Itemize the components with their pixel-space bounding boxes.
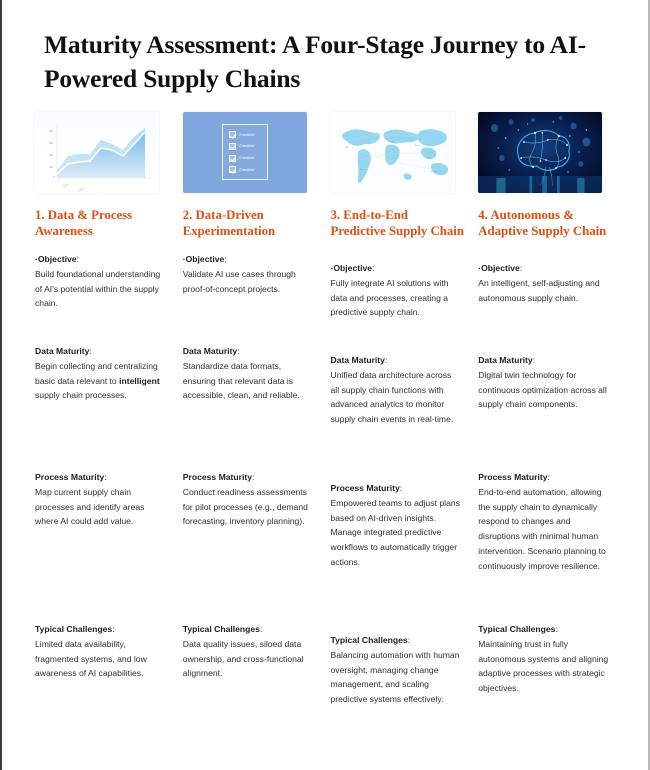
typical-challenges-text-2: Data quality issues, siloed data ownersh…: [183, 639, 304, 679]
objective-colon: :: [520, 263, 522, 273]
checklist-item: Checklist: [229, 166, 267, 173]
objective-text-4: An intelligent, self-adjusting and auton…: [478, 278, 599, 303]
colon: :: [89, 346, 91, 356]
objective-colon: :: [372, 263, 374, 273]
typical-challenges-text-4: Maintaining trust in fully autonomous sy…: [478, 639, 608, 693]
colon: :: [385, 355, 387, 365]
svg-text:Brazil: Brazil: [360, 169, 365, 171]
process-maturity-cell-3: Process Maturity: Empowered teams to adj…: [331, 470, 475, 622]
process-maturity-row: Process Maturity: Map current supply cha…: [2, 470, 650, 622]
typical-challenges-text-3: Balancing automation with human oversigh…: [331, 650, 460, 704]
objective-block-3: ·Objective: Fully integrate AI solutions…: [331, 261, 475, 320]
objective-label-1: ·Objective: [35, 254, 77, 264]
world-map-graphic: USA Brazil Europe China Asia Australia: [331, 112, 455, 193]
typical-challenges-cell-4: Typical Challenges: Maintaining trust in…: [478, 622, 622, 732]
data-maturity-text-1-bold: intelligent: [119, 376, 160, 386]
objective-cell-4: ·Objective: An intelligent, self-adjusti…: [478, 252, 622, 344]
process-maturity-label-3: Process Maturity: [331, 483, 400, 493]
process-maturity-block-3: Process Maturity: Empowered teams to adj…: [331, 481, 475, 570]
objective-block-1: ·Objective: Build foundational understan…: [35, 252, 179, 311]
checkmark-icon: [229, 166, 236, 173]
process-maturity-block-1: Process Maturity: Map current supply cha…: [35, 470, 179, 529]
typical-challenges-cell-1: Typical Challenges: Limited data availab…: [35, 622, 179, 732]
process-maturity-label-2: Process Maturity: [183, 472, 252, 482]
data-maturity-label-1: Data Maturity: [35, 346, 89, 356]
svg-text:Time: Time: [63, 183, 70, 188]
world-map-thumbnail: USA Brazil Europe China Asia Australia: [331, 112, 455, 193]
typical-challenges-block-2: Typical Challenges: Data quality issues,…: [183, 622, 327, 681]
process-maturity-cell-2: Process Maturity: Conduct readiness asse…: [183, 470, 327, 622]
page-title: Maturity Assessment: A Four-Stage Journe…: [2, 0, 648, 96]
objective-text-1: Build foundational understanding of AI's…: [35, 269, 160, 309]
svg-text:600: 600: [49, 141, 54, 145]
checklist-item: Checklist: [229, 143, 267, 150]
checkmark-icon: [229, 155, 236, 162]
process-maturity-block-4: Process Maturity: End-to-end automation,…: [478, 470, 622, 573]
checklist-item-label: Checklist: [239, 168, 254, 172]
data-maturity-cell-2: Data Maturity: Standardize data formats,…: [183, 344, 327, 470]
svg-text:Europe: Europe: [388, 141, 394, 143]
svg-text:China: China: [414, 145, 420, 147]
stage-heading-3: 3. End-to-End Predictive Supply Chain: [331, 207, 475, 240]
stage-column-1: 800 600 400 200 0 Time Value Point Outco…: [35, 112, 179, 240]
objective-colon: :: [77, 254, 79, 264]
checklist-item-label: Checklist: [239, 144, 254, 148]
svg-text:800: 800: [49, 129, 54, 133]
typical-challenges-label-4: Typical Challenges: [478, 624, 555, 634]
colon: :: [408, 635, 410, 645]
chart-graphic: 800 600 400 200 0 Time Value Point Outco…: [35, 112, 159, 193]
process-maturity-text-4: End-to-end automation, allowing the supp…: [478, 487, 606, 571]
objective-label-4: ·Objective: [478, 263, 520, 273]
data-maturity-block-4: Data Maturity: Digital twin technology f…: [478, 353, 622, 412]
data-maturity-row: Data Maturity: Begin collecting and cent…: [2, 344, 650, 470]
checklist-item-label: Checklist: [239, 156, 254, 160]
stage-column-3: USA Brazil Europe China Asia Australia 3…: [331, 112, 475, 240]
objective-label-3: ·Objective: [331, 263, 373, 273]
data-maturity-text-3: Unified data architecture across all sup…: [331, 370, 454, 424]
data-maturity-label-2: Data Maturity: [183, 346, 237, 356]
data-maturity-text-2: Standardize data formats, ensuring that …: [183, 361, 300, 401]
objective-block-2: ·Objective: Validate AI use cases throug…: [183, 252, 327, 296]
stage-heading-1: 1. Data & Process Awareness: [35, 207, 179, 240]
data-maturity-block-3: Data Maturity: Unified data architecture…: [331, 353, 475, 427]
objective-cell-1: ·Objective: Build foundational understan…: [35, 252, 179, 344]
objective-block-4: ·Objective: An intelligent, self-adjusti…: [478, 261, 622, 305]
process-maturity-text-1: Map current supply chain processes and i…: [35, 487, 144, 527]
checklist-item: Checklist: [229, 131, 267, 138]
document-page: Maturity Assessment: A Four-Stage Journe…: [0, 0, 650, 770]
process-maturity-text-3: Empowered teams to adjust plans based on…: [331, 498, 460, 567]
objective-cell-2: ·Objective: Validate AI use cases throug…: [183, 252, 327, 344]
svg-text:Point: Point: [93, 192, 100, 193]
colon: :: [260, 624, 262, 634]
checklist-thumbnail: Checklist Checklist Checklist Checklist: [183, 112, 307, 193]
data-maturity-text-4: Digital twin technology for continuous o…: [478, 370, 607, 410]
checklist-item: Checklist: [229, 155, 267, 162]
area-chart-thumbnail: 800 600 400 200 0 Time Value Point Outco…: [35, 112, 159, 193]
process-maturity-label-4: Process Maturity: [478, 472, 547, 482]
colon: :: [112, 624, 114, 634]
stage-heading-4: 4. Autonomous & Adaptive Supply Chain: [478, 207, 622, 240]
svg-text:USA: USA: [344, 146, 349, 149]
typical-challenges-label-1: Typical Challenges: [35, 624, 112, 634]
process-maturity-cell-1: Process Maturity: Map current supply cha…: [35, 470, 179, 622]
stage-column-2: Checklist Checklist Checklist Checklist: [183, 112, 327, 240]
checklist-item-label: Checklist: [239, 133, 254, 137]
data-maturity-block-2: Data Maturity: Standardize data formats,…: [183, 344, 327, 403]
typical-challenges-label-2: Typical Challenges: [183, 624, 260, 634]
objective-row: ·Objective: Build foundational understan…: [2, 252, 650, 344]
data-maturity-label-4: Data Maturity: [478, 355, 532, 365]
digital-brain-thumbnail: [478, 112, 602, 193]
process-maturity-cell-4: Process Maturity: End-to-end automation,…: [478, 470, 622, 622]
data-maturity-cell-3: Data Maturity: Unified data architecture…: [331, 344, 475, 470]
data-maturity-cell-4: Data Maturity: Digital twin technology f…: [478, 344, 622, 470]
process-maturity-label-1: Process Maturity: [35, 472, 104, 482]
objective-cell-3: ·Objective: Fully integrate AI solutions…: [331, 252, 475, 344]
colon: :: [400, 483, 402, 493]
colon: :: [548, 472, 550, 482]
svg-text:400: 400: [49, 153, 54, 157]
colon: :: [237, 346, 239, 356]
checkmark-icon: [229, 143, 236, 150]
data-maturity-cell-1: Data Maturity: Begin collecting and cent…: [35, 344, 179, 470]
stage-heading-2: 2. Data-Driven Experimentation: [183, 207, 327, 240]
typical-challenges-cell-2: Typical Challenges: Data quality issues,…: [183, 622, 327, 732]
colon: :: [104, 472, 106, 482]
data-maturity-label-3: Data Maturity: [331, 355, 385, 365]
stage-header-row: 800 600 400 200 0 Time Value Point Outco…: [2, 112, 650, 240]
process-maturity-block-2: Process Maturity: Conduct readiness asse…: [183, 470, 327, 529]
data-maturity-block-1: Data Maturity: Begin collecting and cent…: [35, 344, 179, 403]
typical-challenges-label-3: Typical Challenges: [331, 635, 408, 645]
svg-text:0: 0: [53, 175, 55, 179]
objective-text-3: Fully integrate AI solutions with data a…: [331, 278, 449, 318]
checkmark-icon: [229, 131, 236, 138]
svg-text:Value: Value: [78, 187, 85, 193]
typical-challenges-block-1: Typical Challenges: Limited data availab…: [35, 622, 179, 681]
typical-challenges-text-1: Limited data availability, fragmented sy…: [35, 639, 147, 679]
objective-text-2: Validate AI use cases through proof-of-c…: [183, 269, 296, 294]
svg-text:Australia: Australia: [430, 170, 438, 173]
svg-text:200: 200: [49, 165, 54, 169]
data-maturity-text-1-post: supply chain processes.: [35, 390, 127, 400]
stage-column-4: 4. Autonomous & Adaptive Supply Chain: [478, 112, 622, 240]
colon: :: [555, 624, 557, 634]
typical-challenges-block-3: Typical Challenges: Balancing automation…: [331, 633, 475, 707]
brain-graphic: [478, 112, 602, 193]
typical-challenges-cell-3: Typical Challenges: Balancing automation…: [331, 622, 475, 732]
objective-colon: :: [224, 254, 226, 264]
colon: :: [252, 472, 254, 482]
typical-challenges-row: Typical Challenges: Limited data availab…: [2, 622, 650, 732]
typical-challenges-block-4: Typical Challenges: Maintaining trust in…: [478, 622, 622, 696]
checklist-card: Checklist Checklist Checklist Checklist: [222, 124, 268, 180]
process-maturity-text-2: Conduct readiness assessments for pilot …: [183, 487, 308, 527]
colon: :: [533, 355, 535, 365]
objective-label-2: ·Objective: [183, 254, 225, 264]
